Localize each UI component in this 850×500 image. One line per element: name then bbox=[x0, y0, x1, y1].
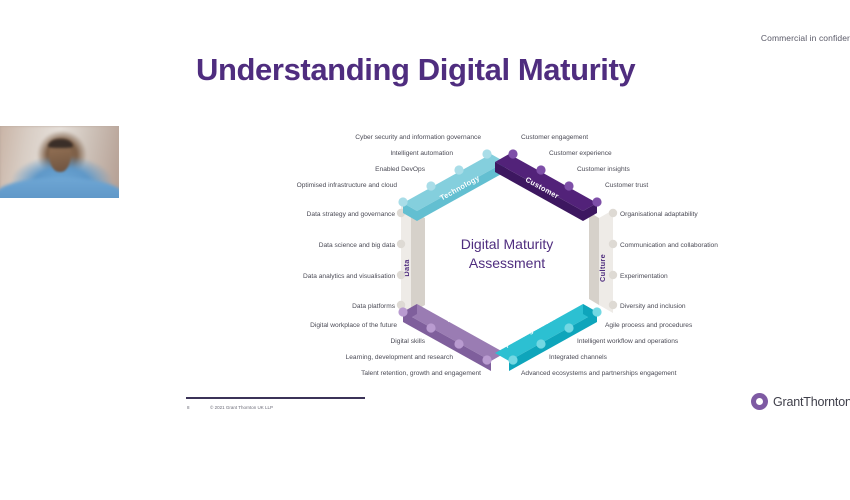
label-technology-1: Cyber security and information governanc… bbox=[355, 134, 481, 141]
node-customer-3[interactable] bbox=[564, 181, 573, 190]
label-sustainable-1: Agile process and procedures bbox=[605, 322, 693, 329]
label-data-1: Data strategy and governance bbox=[307, 211, 396, 218]
node-customer-1[interactable] bbox=[508, 149, 517, 158]
node-culture-1[interactable] bbox=[609, 209, 617, 217]
label-customer-1: Customer engagement bbox=[521, 134, 588, 141]
node-capabilities-3[interactable] bbox=[454, 339, 463, 348]
node-culture-3[interactable] bbox=[609, 271, 617, 279]
grant-thornton-wordmark: GrantThornton bbox=[773, 395, 850, 409]
presentation-slide: Commercial in confider Understanding Dig… bbox=[0, 0, 850, 500]
node-capabilities-2[interactable] bbox=[426, 323, 435, 332]
label-capabilities-2: Digital skills bbox=[391, 338, 426, 345]
label-sustainable-4: Advanced ecosystems and partnerships eng… bbox=[521, 370, 677, 377]
segment-data-side bbox=[411, 210, 425, 313]
segment-technology-top bbox=[403, 154, 505, 211]
label-data-3: Data analytics and visualisation bbox=[303, 273, 395, 280]
label-capabilities-4: Talent retention, growth and engagement bbox=[361, 370, 481, 377]
webcam-person-hair bbox=[48, 139, 73, 148]
label-technology-4: Optimised infrastructure and cloud bbox=[297, 182, 398, 189]
node-sustainable-4[interactable] bbox=[592, 307, 601, 316]
webcam-video-tile[interactable] bbox=[0, 126, 119, 198]
segment-data[interactable]: Data bbox=[397, 204, 425, 313]
node-sustainable-3[interactable] bbox=[564, 323, 573, 332]
label-customer-4: Customer trust bbox=[605, 182, 648, 189]
label-culture-2: Communication and collaboration bbox=[620, 242, 718, 249]
segment-customer[interactable]: Customer bbox=[495, 149, 602, 221]
label-sustainable-2: Intelligent workflow and operations bbox=[577, 338, 679, 345]
confidentiality-notice: Commercial in confider bbox=[761, 33, 850, 43]
label-customer-2: Customer experience bbox=[549, 150, 612, 157]
label-culture-1: Organisational adaptability bbox=[620, 211, 698, 218]
node-technology-1[interactable] bbox=[482, 149, 491, 158]
segment-customer-top bbox=[495, 154, 597, 211]
node-technology-4[interactable] bbox=[398, 197, 407, 206]
grant-thornton-logo: GrantThornton bbox=[751, 393, 850, 410]
labels-culture: Organisational adaptability Communicatio… bbox=[620, 211, 718, 310]
center-title-line1: Digital Maturity bbox=[461, 236, 554, 252]
label-sustainable-3: Integrated channels bbox=[549, 354, 608, 361]
label-capabilities-3: Learning, development and research bbox=[346, 354, 454, 361]
center-title-line2: Assessment bbox=[469, 255, 545, 271]
node-culture-4[interactable] bbox=[609, 301, 617, 309]
node-sustainable-2[interactable] bbox=[536, 339, 545, 348]
label-culture-4: Diversity and inclusion bbox=[620, 303, 686, 310]
node-data-3[interactable] bbox=[397, 271, 405, 279]
node-customer-2[interactable] bbox=[536, 165, 545, 174]
brand-word-grant: Grant bbox=[773, 395, 803, 409]
segment-capabilities-top bbox=[403, 304, 505, 361]
footer-page-number: 8 bbox=[187, 405, 190, 410]
node-capabilities-4[interactable] bbox=[482, 355, 491, 364]
label-customer-3: Customer insights bbox=[577, 166, 630, 173]
footer-divider bbox=[186, 397, 365, 399]
page-title: Understanding Digital Maturity bbox=[196, 52, 635, 88]
grant-thornton-mark-icon bbox=[751, 393, 768, 410]
segment-data-face bbox=[401, 204, 411, 313]
label-technology-2: Intelligent automation bbox=[390, 150, 453, 157]
label-data-4: Data platforms bbox=[352, 303, 396, 310]
segment-technology[interactable]: Technology bbox=[398, 149, 505, 221]
segment-culture-label: Culture bbox=[598, 254, 607, 282]
label-capabilities-1: Digital workplace of the future bbox=[310, 322, 397, 329]
diagram-center-title: Digital Maturity Assessment bbox=[461, 236, 554, 271]
digital-maturity-hexagon-diagram: Data Culture Technology bbox=[283, 118, 743, 388]
segment-culture[interactable]: Culture bbox=[589, 209, 617, 313]
label-culture-3: Experimentation bbox=[620, 273, 668, 280]
node-customer-4[interactable] bbox=[592, 197, 601, 206]
node-sustainable-1[interactable] bbox=[508, 355, 517, 364]
label-data-2: Data science and big data bbox=[319, 242, 396, 249]
label-technology-3: Enabled DevOps bbox=[375, 166, 426, 173]
node-data-2[interactable] bbox=[397, 240, 405, 248]
footer-copyright: © 2021 Grant Thornton UK LLP bbox=[210, 405, 273, 410]
node-capabilities-1[interactable] bbox=[398, 307, 407, 316]
node-culture-2[interactable] bbox=[609, 240, 617, 248]
labels-data: Data strategy and governance Data scienc… bbox=[303, 211, 396, 310]
node-technology-2[interactable] bbox=[454, 165, 463, 174]
brand-word-thornton: Thornton bbox=[803, 395, 850, 409]
node-technology-3[interactable] bbox=[426, 181, 435, 190]
